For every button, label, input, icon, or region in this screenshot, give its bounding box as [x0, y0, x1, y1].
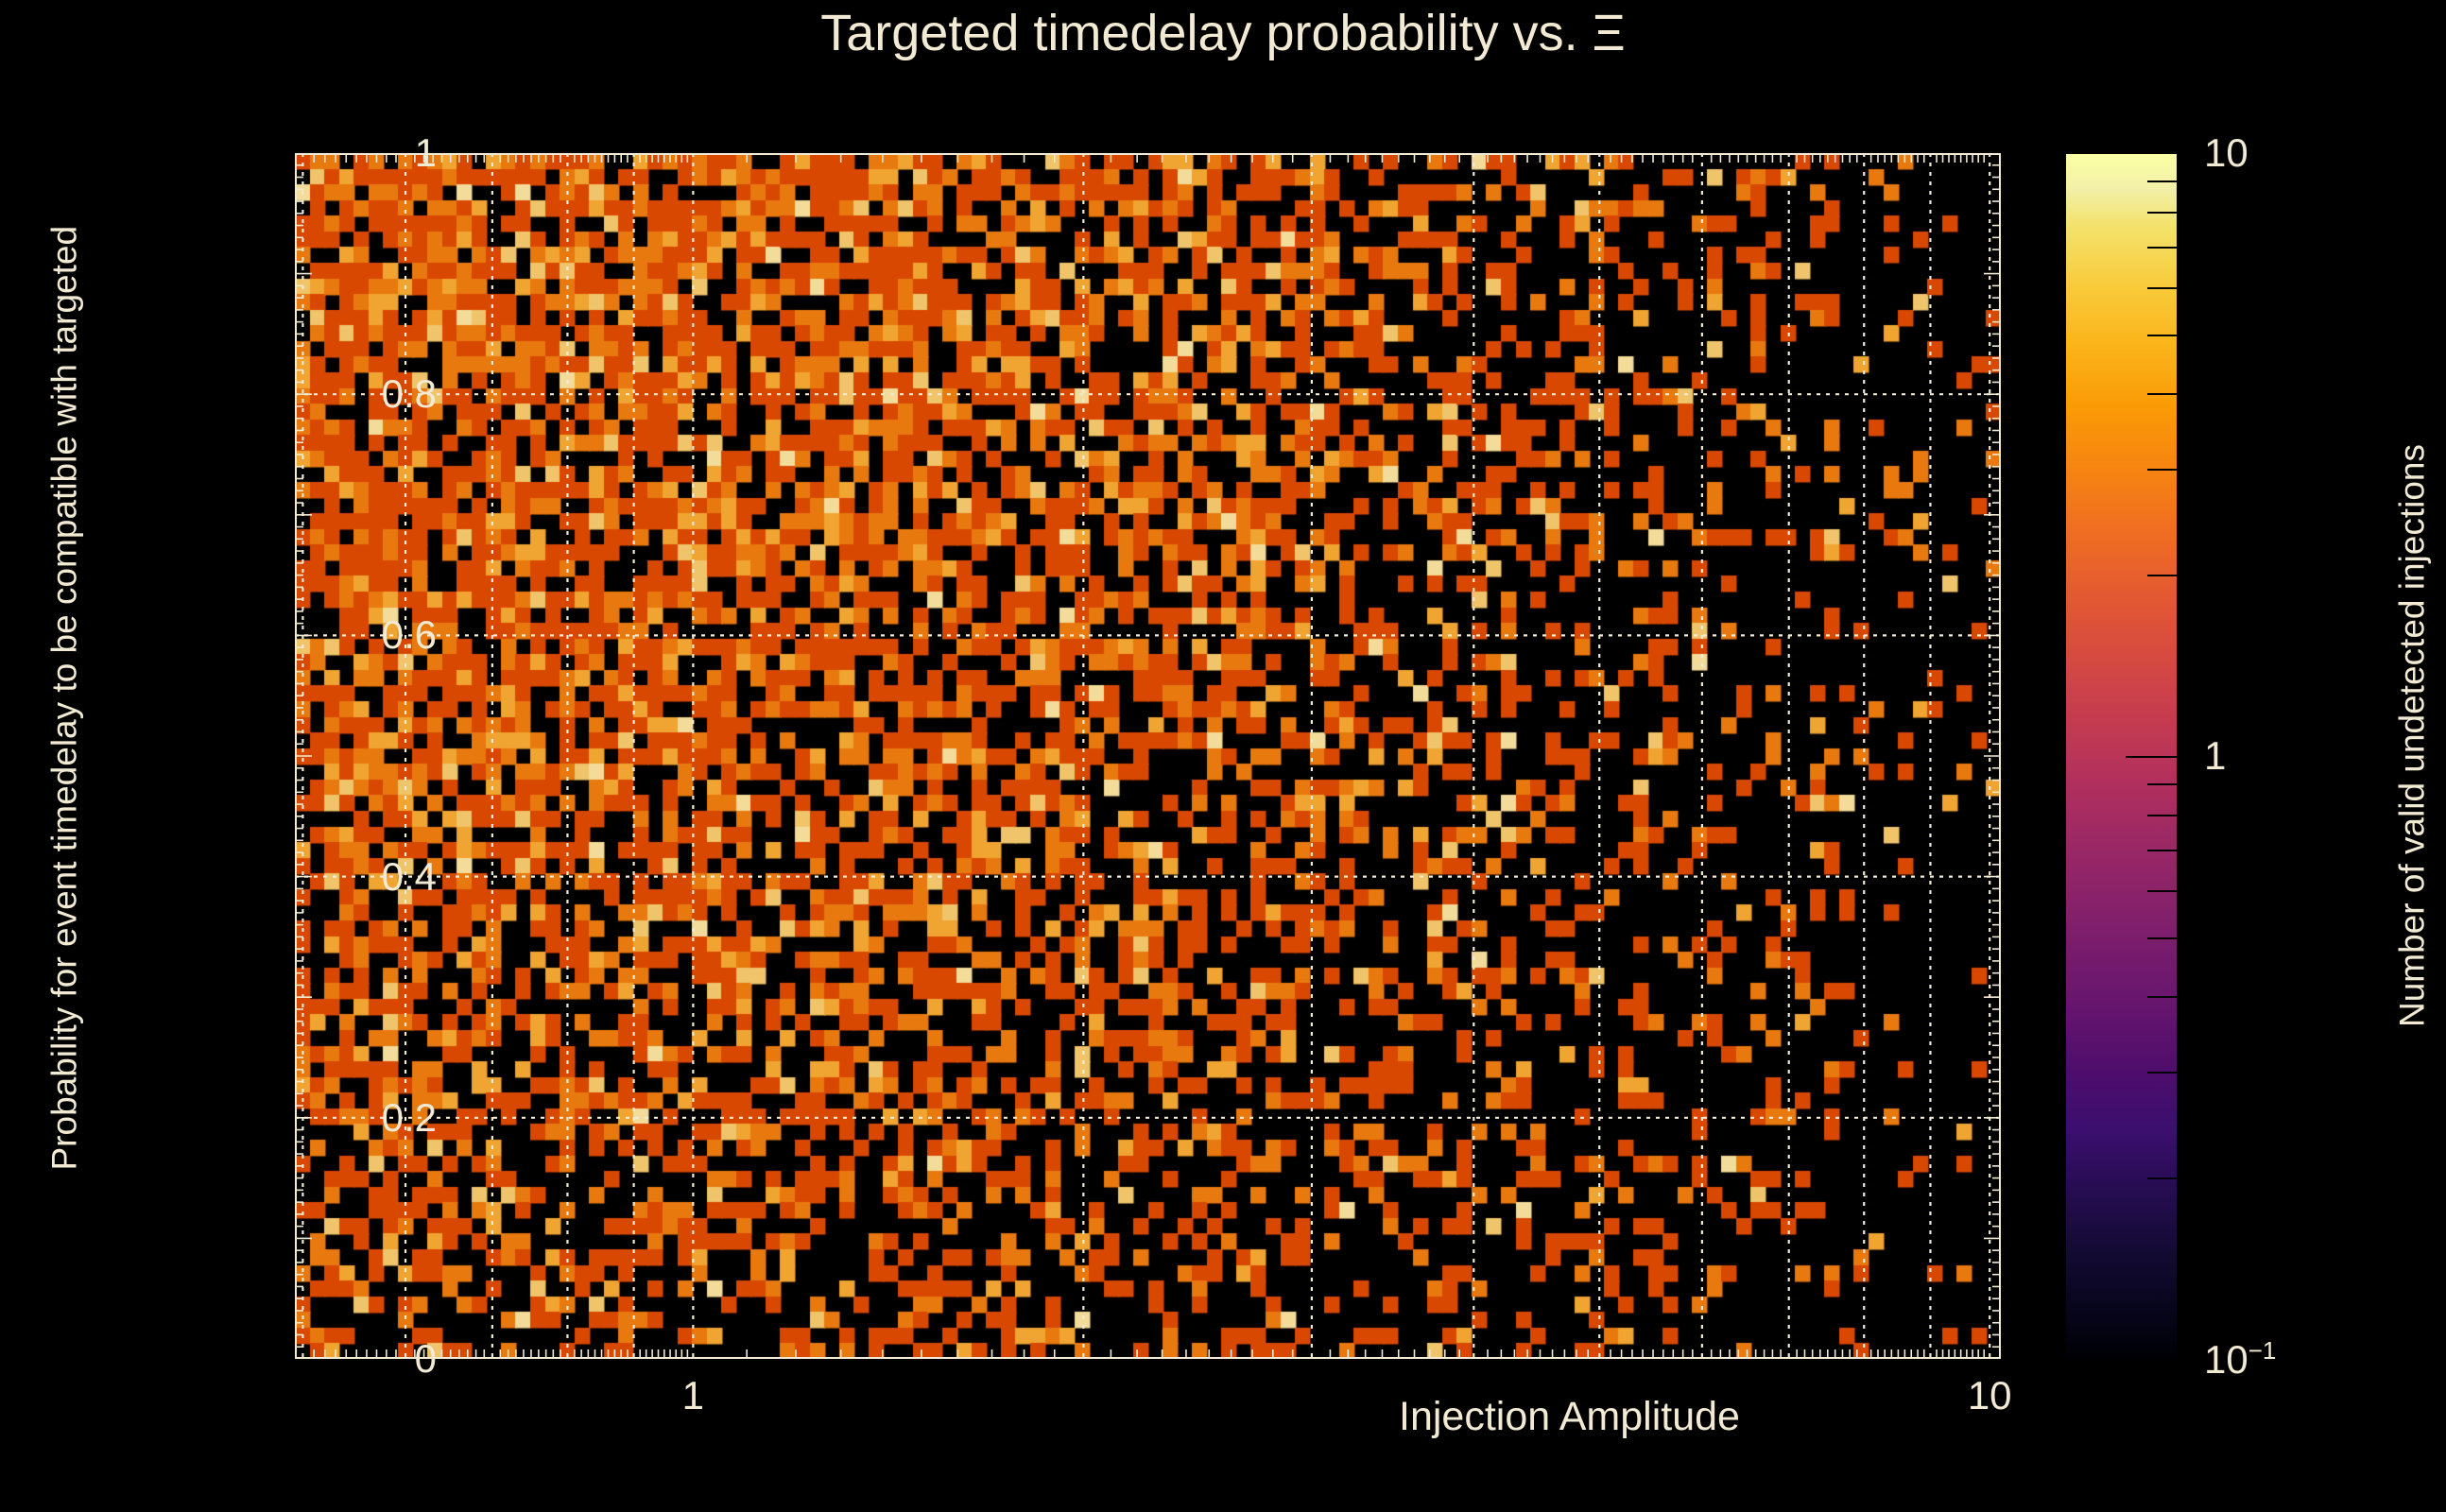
colorbar-minor-tick	[2147, 890, 2178, 892]
colorbar-minor-tick	[2147, 1072, 2178, 1074]
colorbar-minor-tick	[2147, 1177, 2178, 1179]
y-tick-label: 1	[415, 133, 437, 173]
heatmap-plot-area	[295, 153, 2001, 1359]
y-axis-label: Probability for event timedelay to be co…	[47, 301, 82, 1171]
chart-title: Targeted timedelay probability vs. Ξ	[0, 8, 2446, 59]
colorbar-tick-label-bottom: 10−1	[2204, 1338, 2276, 1380]
x-axis-label: Injection Amplitude	[1399, 1397, 1740, 1437]
colorbar-minor-tick	[2147, 247, 2178, 249]
colorbar-minor-tick	[2147, 212, 2178, 214]
x-tick-label: 1	[682, 1376, 704, 1416]
colorbar-minor-tick	[2147, 393, 2178, 395]
colorbar-minor-tick	[2147, 287, 2178, 289]
colorbar-label: Number of valid undetected injections	[2395, 330, 2430, 1143]
y-tick-label: 0.6	[382, 615, 437, 655]
colorbar-minor-tick	[2147, 575, 2178, 576]
x-tick-label: 10	[1968, 1376, 2012, 1416]
colorbar-tick-label-top: 10	[2204, 133, 2248, 173]
figure-canvas: Targeted timedelay probability vs. Ξ Pro…	[0, 0, 2446, 1512]
y-tick-label: 0	[415, 1339, 437, 1379]
cb-bot-base: 10	[2204, 1337, 2248, 1382]
colorbar-minor-tick	[2147, 469, 2178, 471]
y-tick-label: 0.8	[382, 374, 437, 414]
colorbar-minor-tick	[2147, 815, 2178, 816]
heatmap-cells	[295, 153, 2001, 1359]
y-tick-label: 0.2	[382, 1098, 437, 1138]
cb-bot-exponent: −1	[2248, 1336, 2277, 1365]
colorbar-minor-tick	[2126, 1359, 2178, 1361]
colorbar-minor-tick	[2147, 335, 2178, 336]
colorbar-minor-tick	[2147, 850, 2178, 851]
colorbar-minor-tick	[2147, 783, 2178, 785]
colorbar-minor-tick	[2147, 996, 2178, 998]
colorbar-minor-tick	[2147, 937, 2178, 939]
colorbar-minor-tick	[2126, 756, 2178, 758]
colorbar-minor-tick	[2147, 180, 2178, 182]
colorbar-tick-label-mid: 1	[2204, 736, 2226, 776]
y-tick-label: 0.4	[382, 857, 437, 897]
